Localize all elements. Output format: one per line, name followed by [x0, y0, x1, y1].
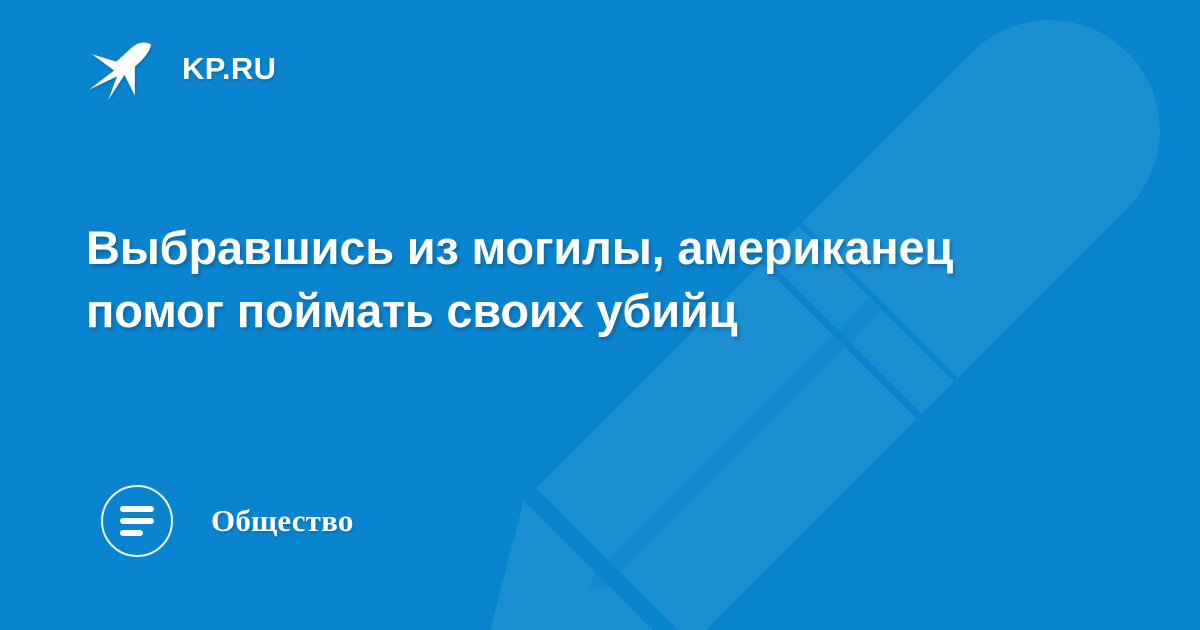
menu-bar-middle: [120, 518, 154, 524]
social-share-card: KP.RU Выбравшись из могилы, американец п…: [0, 0, 1200, 630]
rubric-label: Общество: [211, 503, 354, 539]
menu-bar-top: [120, 506, 154, 512]
article-headline: Выбравшись из могилы, американец помог п…: [86, 217, 1096, 342]
site-logo[interactable]: KP.RU: [86, 34, 276, 104]
menu-bar-bottom: [120, 530, 143, 536]
swallow-bird-icon: [86, 32, 160, 106]
hamburger-menu-icon[interactable]: [101, 485, 173, 557]
rubric-badge[interactable]: Общество: [101, 484, 354, 558]
logo-wordmark: KP.RU: [182, 51, 276, 87]
